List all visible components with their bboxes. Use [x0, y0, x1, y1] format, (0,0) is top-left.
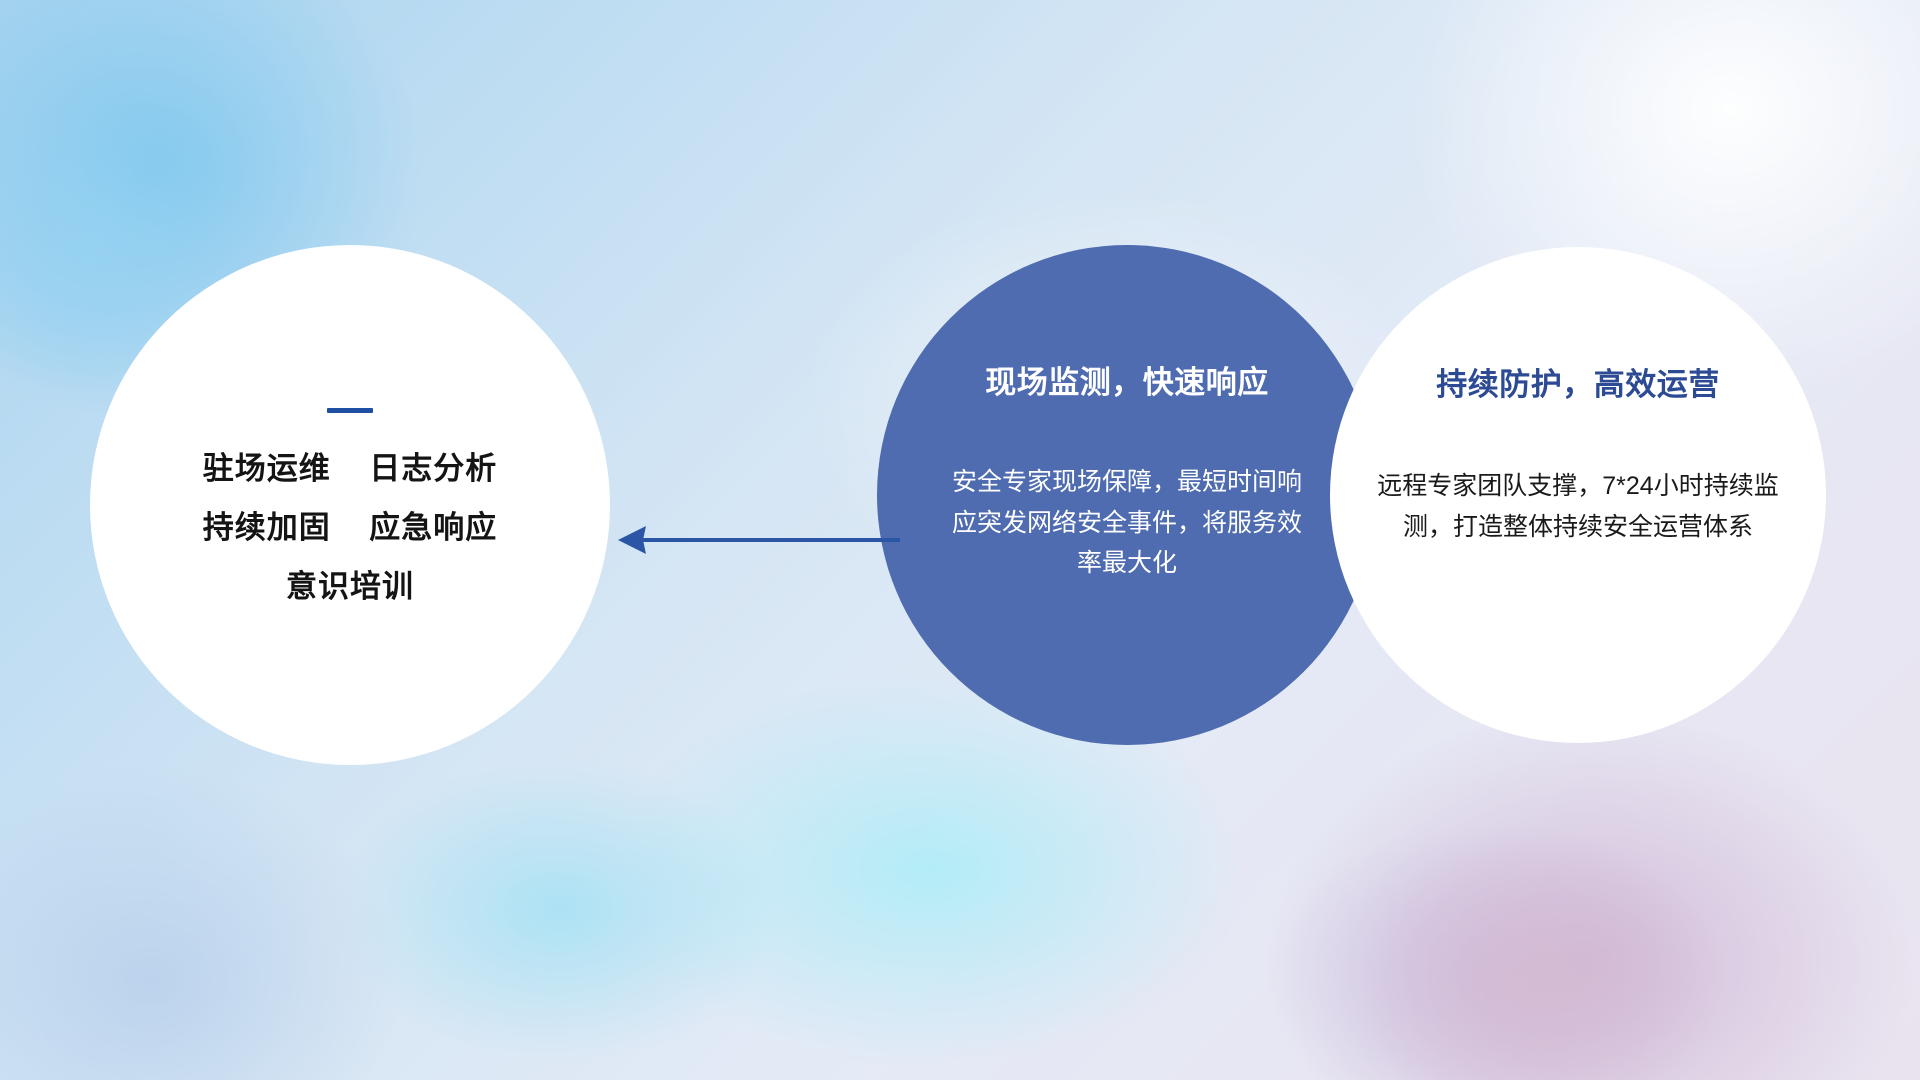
- background-glow-lavender: [1180, 760, 1800, 1080]
- left-keyword-line-2: 持续加固 应急响应: [203, 512, 497, 543]
- left-divider-dash: [327, 408, 373, 413]
- right-circle-body: 远程专家团队支撑，7*24小时持续监测，打造整体持续安全运营体系: [1368, 466, 1788, 547]
- slide-canvas: 驻场运维 日志分析 持续加固 应急响应 意识培训 现场监测，快速响应 安全专家现…: [0, 0, 1920, 1080]
- middle-circle-content: 现场监测，快速响应 安全专家现场保障，最短时间响应突发网络安全事件，将服务效率最…: [877, 245, 1377, 745]
- right-circle-title: 持续防护，高效运营: [1436, 359, 1720, 404]
- left-keyword-line-1: 驻场运维 日志分析: [203, 453, 497, 484]
- background-glow-pink-2: [1280, 770, 1800, 1080]
- flow-arrow-left-icon: [610, 515, 900, 565]
- middle-circle-body: 安全专家现场保障，最短时间响应突发网络安全事件，将服务效率最大化: [947, 462, 1307, 584]
- left-keyword-line-3: 意识培训: [286, 571, 414, 602]
- left-circle-content: 驻场运维 日志分析 持续加固 应急响应 意识培训: [90, 245, 610, 765]
- middle-circle-title: 现场监测，快速响应: [985, 357, 1269, 402]
- right-circle-content: 持续防护，高效运营 远程专家团队支撑，7*24小时持续监测，打造整体持续安全运营…: [1330, 247, 1826, 743]
